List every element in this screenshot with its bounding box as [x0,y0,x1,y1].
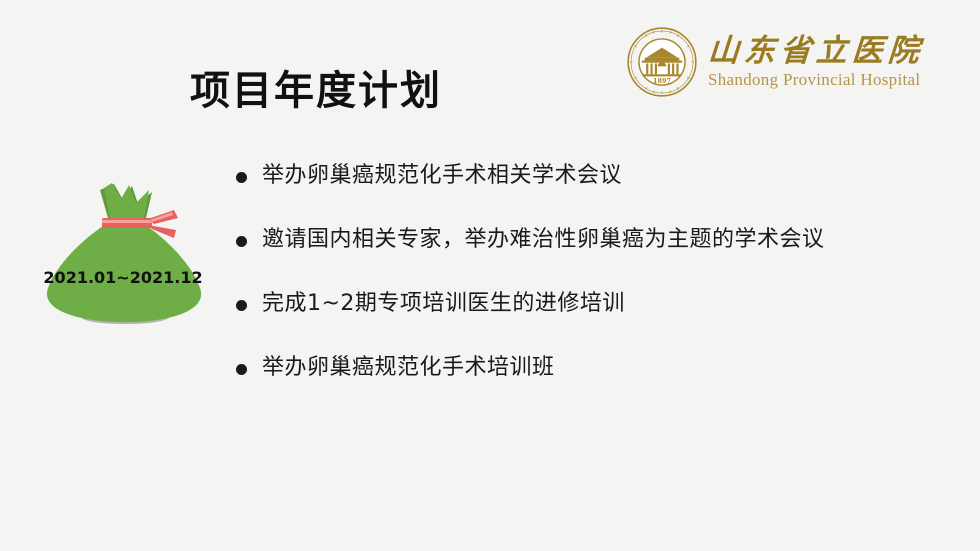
bullet-dot-icon [236,172,247,183]
list-item: 完成1~2期专项培训医生的进修培训 [236,288,936,352]
slide-canvas: 1897 山东省立医院 Shandong Provincial Hospital… [0,0,980,551]
hospital-emblem-icon: 1897 [626,26,698,98]
annual-plan-list: 举办卵巢癌规范化手术相关学术会议 邀请国内相关专家，举办难治性卵巢癌为主题的学术… [236,160,936,416]
list-item: 邀请国内相关专家，举办难治性卵巢癌为主题的学术会议 [236,224,936,288]
bullet-dot-icon [236,236,247,247]
bullet-dot-icon [236,300,247,311]
list-item-text: 举办卵巢癌规范化手术培训班 [262,352,555,384]
bag-top-flap [104,183,149,219]
bag-body [47,222,201,322]
hospital-name-en: Shandong Provincial Hospital [708,70,924,90]
list-item-text: 邀请国内相关专家，举办难治性卵巢癌为主题的学术会议 [262,224,825,256]
list-item-text: 完成1~2期专项培训医生的进修培训 [262,288,625,320]
hospital-logo-text: 山东省立医院 Shandong Provincial Hospital [708,34,924,91]
bullet-dot-icon [236,364,247,375]
hospital-logo: 1897 山东省立医院 Shandong Provincial Hospital [626,22,926,102]
svg-text:1897: 1897 [653,77,671,85]
list-item: 举办卵巢癌规范化手术相关学术会议 [236,160,936,224]
list-item-text: 举办卵巢癌规范化手术相关学术会议 [262,160,622,192]
money-bag-graphic [28,178,218,328]
page-title: 项目年度计划 [190,58,442,116]
list-item: 举办卵巢癌规范化手术培训班 [236,352,936,416]
hospital-name-cn: 山东省立医院 [707,34,925,70]
